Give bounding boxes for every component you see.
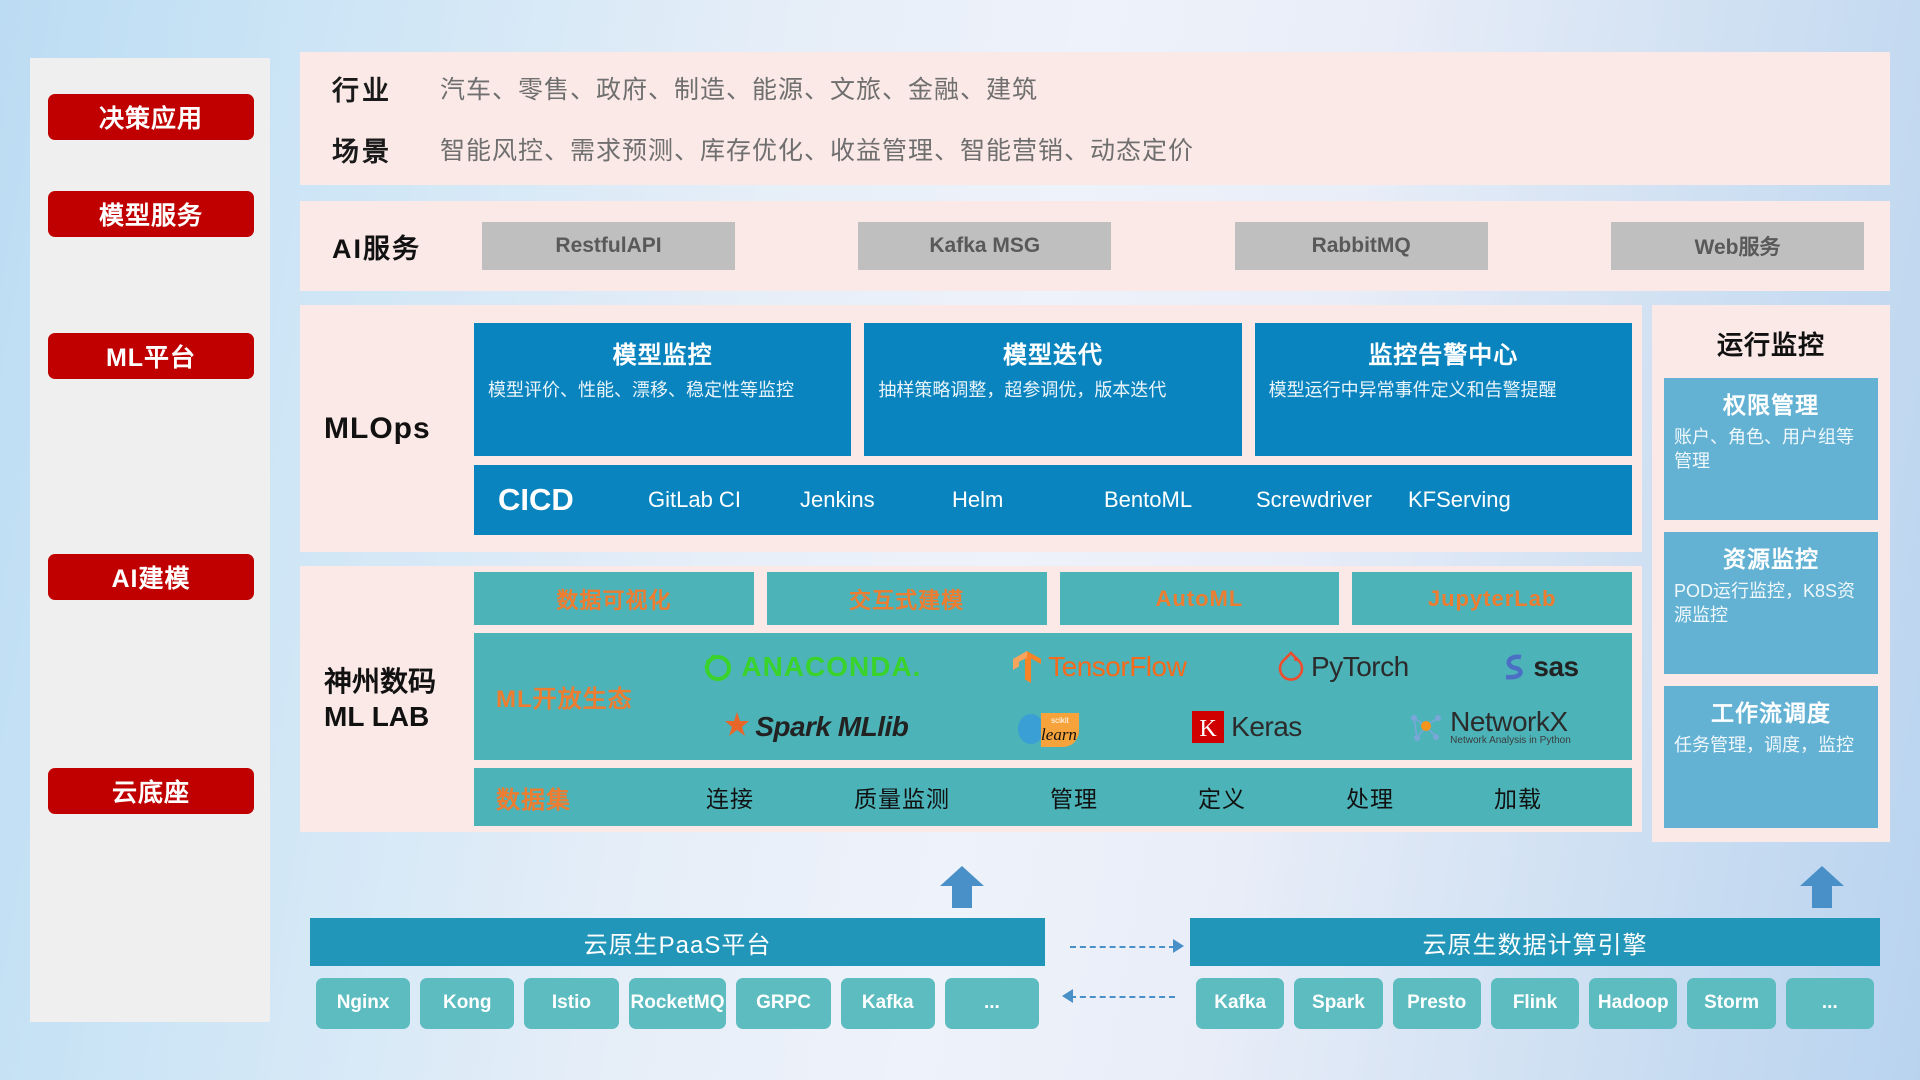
ai-chip-web-service[interactable]: Web服务 — [1611, 222, 1864, 270]
tensorflow-label: TensorFlow — [1048, 651, 1186, 683]
card-desc: POD运行监控，K8S资源监控 — [1674, 579, 1868, 628]
rail-chip-cloud-base[interactable]: 云底座 — [48, 768, 254, 814]
scikit-learn-icon: scikit learn — [1015, 707, 1085, 747]
rail-chip-decision-app[interactable]: 决策应用 — [48, 94, 254, 140]
rail-chip-ai-modeling[interactable]: AI建模 — [48, 554, 254, 600]
cloud-pill-hadoop[interactable]: Hadoop — [1589, 978, 1677, 1029]
tool-chip-jupyterlab[interactable]: JupyterLab — [1352, 572, 1632, 625]
ml-lab-tool-list: 数据可视化 交互式建模 AutoML JupyterLab — [474, 572, 1632, 625]
arrow-up-paas — [940, 866, 984, 908]
dataset-item-process[interactable]: 处理 — [1346, 780, 1394, 814]
tensorflow-icon — [1012, 650, 1042, 684]
keras-logo: K Keras — [1191, 710, 1302, 744]
dataset-item-define[interactable]: 定义 — [1198, 780, 1246, 814]
cloud-paas-title: 云原生PaaS平台 — [310, 918, 1045, 966]
dashed-arrow-right — [1173, 939, 1184, 953]
networkx-icon — [1408, 709, 1444, 745]
spark-icon — [709, 710, 749, 744]
anaconda-label: ANACONDA. — [741, 651, 921, 683]
cloud-pill-istio[interactable]: Istio — [524, 978, 618, 1029]
mlops-label: MLOps — [324, 412, 474, 446]
ml-open-ecosystem-label: ML开放生态 — [496, 679, 656, 714]
ai-service-band: AI服务 RestfulAPI Kafka MSG RabbitMQ Web服务 — [300, 201, 1890, 291]
card-title: 模型迭代 — [878, 335, 1227, 370]
rail-chip-model-service[interactable]: 模型服务 — [48, 191, 254, 237]
dataset-item-connect[interactable]: 连接 — [706, 780, 754, 814]
cloud-pill-more[interactable]: ... — [945, 978, 1039, 1029]
card-desc: 任务管理，调度，监控 — [1674, 733, 1868, 757]
tool-chip-data-visualization[interactable]: 数据可视化 — [474, 572, 754, 625]
anaconda-icon — [701, 650, 735, 684]
dashed-line-top — [1070, 946, 1175, 948]
cloud-pill-rocketmq[interactable]: RocketMQ — [629, 978, 727, 1029]
platform-left-stack: MLOps 模型监控 模型评价、性能、漂移、稳定性等监控 模型迭代 抽样策略调整… — [300, 305, 1642, 842]
industry-row: 行业 汽车、零售、政府、制造、能源、文旅、金融、建筑 — [332, 69, 1194, 108]
dataset-row: 数据集 连接 质量监测 管理 定义 处理 加载 — [474, 768, 1632, 826]
ai-chip-rabbitmq[interactable]: RabbitMQ — [1235, 222, 1488, 270]
monitor-card-resource[interactable]: 资源监控 POD运行监控，K8S资源监控 — [1664, 532, 1878, 674]
cloud-pill-kong[interactable]: Kong — [420, 978, 514, 1029]
spark-mllib-logo: Spark MLlib — [709, 710, 908, 744]
svg-text:K: K — [1199, 716, 1217, 742]
cicd-item-bentoml[interactable]: BentoML — [1104, 486, 1256, 514]
cloud-pill-nginx[interactable]: Nginx — [316, 978, 410, 1029]
tensorflow-logo: TensorFlow — [1012, 650, 1186, 684]
cloud-compute-pill-list: Kafka Spark Presto Flink Hadoop Storm ..… — [1190, 966, 1880, 1035]
cicd-item-kfserving[interactable]: KFServing — [1408, 486, 1560, 514]
cloud-compute-title: 云原生数据计算引擎 — [1190, 918, 1880, 966]
keras-label: Keras — [1231, 711, 1302, 743]
dataset-item-quality[interactable]: 质量监测 — [854, 780, 950, 814]
mlops-card-list: 模型监控 模型评价、性能、漂移、稳定性等监控 模型迭代 抽样策略调整，超参调优，… — [474, 323, 1632, 456]
ml-lab-label-line1: 神州数码 — [324, 664, 474, 699]
arrow-up-compute — [1800, 866, 1844, 908]
mlops-card-model-iteration[interactable]: 模型迭代 抽样策略调整，超参调优，版本迭代 — [864, 323, 1241, 456]
rail-chip-ml-platform[interactable]: ML平台 — [48, 333, 254, 379]
industry-key: 行业 — [332, 69, 404, 108]
ai-service-chip-list: RestfulAPI Kafka MSG RabbitMQ Web服务 — [482, 222, 1864, 270]
card-title: 权限管理 — [1674, 386, 1868, 420]
card-desc: 模型运行中异常事件定义和告警提醒 — [1269, 378, 1618, 402]
card-desc: 账户、角色、用户组等管理 — [1674, 425, 1868, 474]
pytorch-icon — [1277, 651, 1305, 683]
ml-lab-label-line2: ML LAB — [324, 699, 474, 734]
cicd-item-screwdriver[interactable]: Screwdriver — [1256, 486, 1408, 514]
networkx-label: NetworkX — [1450, 708, 1571, 736]
cloud-paas-group: 云原生PaaS平台 Nginx Kong Istio RocketMQ GRPC… — [310, 918, 1045, 1035]
tool-chip-automl[interactable]: AutoML — [1060, 572, 1340, 625]
cloud-pill-spark[interactable]: Spark — [1294, 978, 1382, 1029]
card-desc: 抽样策略调整，超参调优，版本迭代 — [878, 378, 1227, 402]
cicd-item-gitlab-ci[interactable]: GitLab CI — [648, 486, 800, 514]
mlops-card-model-monitoring[interactable]: 模型监控 模型评价、性能、漂移、稳定性等监控 — [474, 323, 851, 456]
svg-text:scikit: scikit — [1051, 716, 1070, 725]
scenario-value: 智能风控、需求预测、库存优化、收益管理、智能营销、动态定价 — [440, 131, 1194, 167]
cloud-pill-storm[interactable]: Storm — [1687, 978, 1775, 1029]
pytorch-logo: PyTorch — [1277, 651, 1409, 683]
card-title: 资源监控 — [1674, 540, 1868, 574]
cloud-paas-pill-list: Nginx Kong Istio RocketMQ GRPC Kafka ... — [310, 966, 1045, 1035]
runtime-monitor-column: 运行监控 权限管理 账户、角色、用户组等管理 资源监控 POD运行监控，K8S资… — [1652, 305, 1890, 842]
monitor-card-permission[interactable]: 权限管理 账户、角色、用户组等管理 — [1664, 378, 1878, 520]
dashed-arrow-left — [1062, 989, 1073, 1003]
cicd-title: CICD — [498, 482, 648, 518]
scenario-row: 场景 智能风控、需求预测、库存优化、收益管理、智能营销、动态定价 — [332, 130, 1194, 169]
cloud-pill-presto[interactable]: Presto — [1393, 978, 1481, 1029]
dataset-item-load[interactable]: 加载 — [1494, 780, 1542, 814]
sas-logo: sas — [1499, 651, 1578, 683]
logo-row-1: ANACONDA. TensorFlow — [656, 638, 1624, 696]
cloud-compute-group: 云原生数据计算引擎 Kafka Spark Presto Flink Hadoo… — [1190, 918, 1880, 1035]
dataset-item-manage[interactable]: 管理 — [1050, 780, 1098, 814]
platform-middle-wrap: MLOps 模型监控 模型评价、性能、漂移、稳定性等监控 模型迭代 抽样策略调整… — [300, 305, 1890, 842]
card-title: 模型监控 — [488, 335, 837, 370]
ai-chip-restfulapi[interactable]: RestfulAPI — [482, 222, 735, 270]
cloud-pill-more-2[interactable]: ... — [1786, 978, 1874, 1029]
main-column: 行业 汽车、零售、政府、制造、能源、文旅、金融、建筑 场景 智能风控、需求预测、… — [300, 52, 1890, 842]
svg-text:learn: learn — [1041, 725, 1077, 744]
networkx-logo: NetworkX Network Analysis in Python — [1408, 708, 1571, 746]
industry-value: 汽车、零售、政府、制造、能源、文旅、金融、建筑 — [440, 70, 1038, 106]
cloud-base-section: 云原生PaaS平台 Nginx Kong Istio RocketMQ GRPC… — [300, 888, 1890, 1038]
pytorch-label: PyTorch — [1311, 651, 1409, 683]
monitor-card-workflow[interactable]: 工作流调度 任务管理，调度，监控 — [1664, 686, 1878, 828]
industry-scenario-band: 行业 汽车、零售、政府、制造、能源、文旅、金融、建筑 场景 智能风控、需求预测、… — [300, 52, 1890, 185]
card-title: 工作流调度 — [1674, 694, 1868, 728]
cicd-item-jenkins[interactable]: Jenkins — [800, 486, 952, 514]
runtime-monitor-title: 运行监控 — [1717, 325, 1825, 362]
mlops-card-alert-center[interactable]: 监控告警中心 模型运行中异常事件定义和告警提醒 — [1255, 323, 1632, 456]
sas-icon — [1499, 652, 1527, 682]
cloud-pill-flink[interactable]: Flink — [1491, 978, 1579, 1029]
scenario-key: 场景 — [332, 130, 404, 169]
tool-chip-interactive-modeling[interactable]: 交互式建模 — [767, 572, 1047, 625]
cloud-pill-grpc[interactable]: GRPC — [736, 978, 830, 1029]
card-desc: 模型评价、性能、漂移、稳定性等监控 — [488, 378, 837, 402]
cloud-pill-kafka[interactable]: Kafka — [841, 978, 935, 1029]
keras-icon: K — [1191, 710, 1225, 744]
cloud-pill-kafka-2[interactable]: Kafka — [1196, 978, 1284, 1029]
sas-label: sas — [1533, 651, 1578, 683]
networkx-subtitle: Network Analysis in Python — [1450, 736, 1571, 746]
cicd-item-helm[interactable]: Helm — [952, 486, 1104, 514]
scikit-learn-logo: scikit learn — [1015, 707, 1085, 747]
anaconda-logo: ANACONDA. — [701, 650, 921, 684]
dashed-line-bottom — [1070, 996, 1175, 998]
left-rail: 决策应用 模型服务 ML平台 AI建模 云底座 — [30, 58, 270, 1022]
cicd-bar: CICD GitLab CI Jenkins Helm BentoML Scre… — [474, 465, 1632, 535]
ai-service-label: AI服务 — [332, 227, 482, 266]
ml-open-ecosystem-row: ML开放生态 ANACONDA. — [474, 633, 1632, 760]
logo-row-2: Spark MLlib scikit learn — [656, 698, 1624, 756]
ml-lab-label: 神州数码 ML LAB — [324, 664, 474, 734]
card-title: 监控告警中心 — [1269, 335, 1618, 370]
dataset-label: 数据集 — [496, 780, 656, 815]
ai-chip-kafka-msg[interactable]: Kafka MSG — [858, 222, 1111, 270]
mlops-band: MLOps 模型监控 模型评价、性能、漂移、稳定性等监控 模型迭代 抽样策略调整… — [300, 305, 1642, 552]
spark-mllib-label: Spark MLlib — [755, 711, 908, 743]
ml-lab-band: 神州数码 ML LAB 数据可视化 交互式建模 AutoML JupyterLa… — [300, 566, 1642, 832]
